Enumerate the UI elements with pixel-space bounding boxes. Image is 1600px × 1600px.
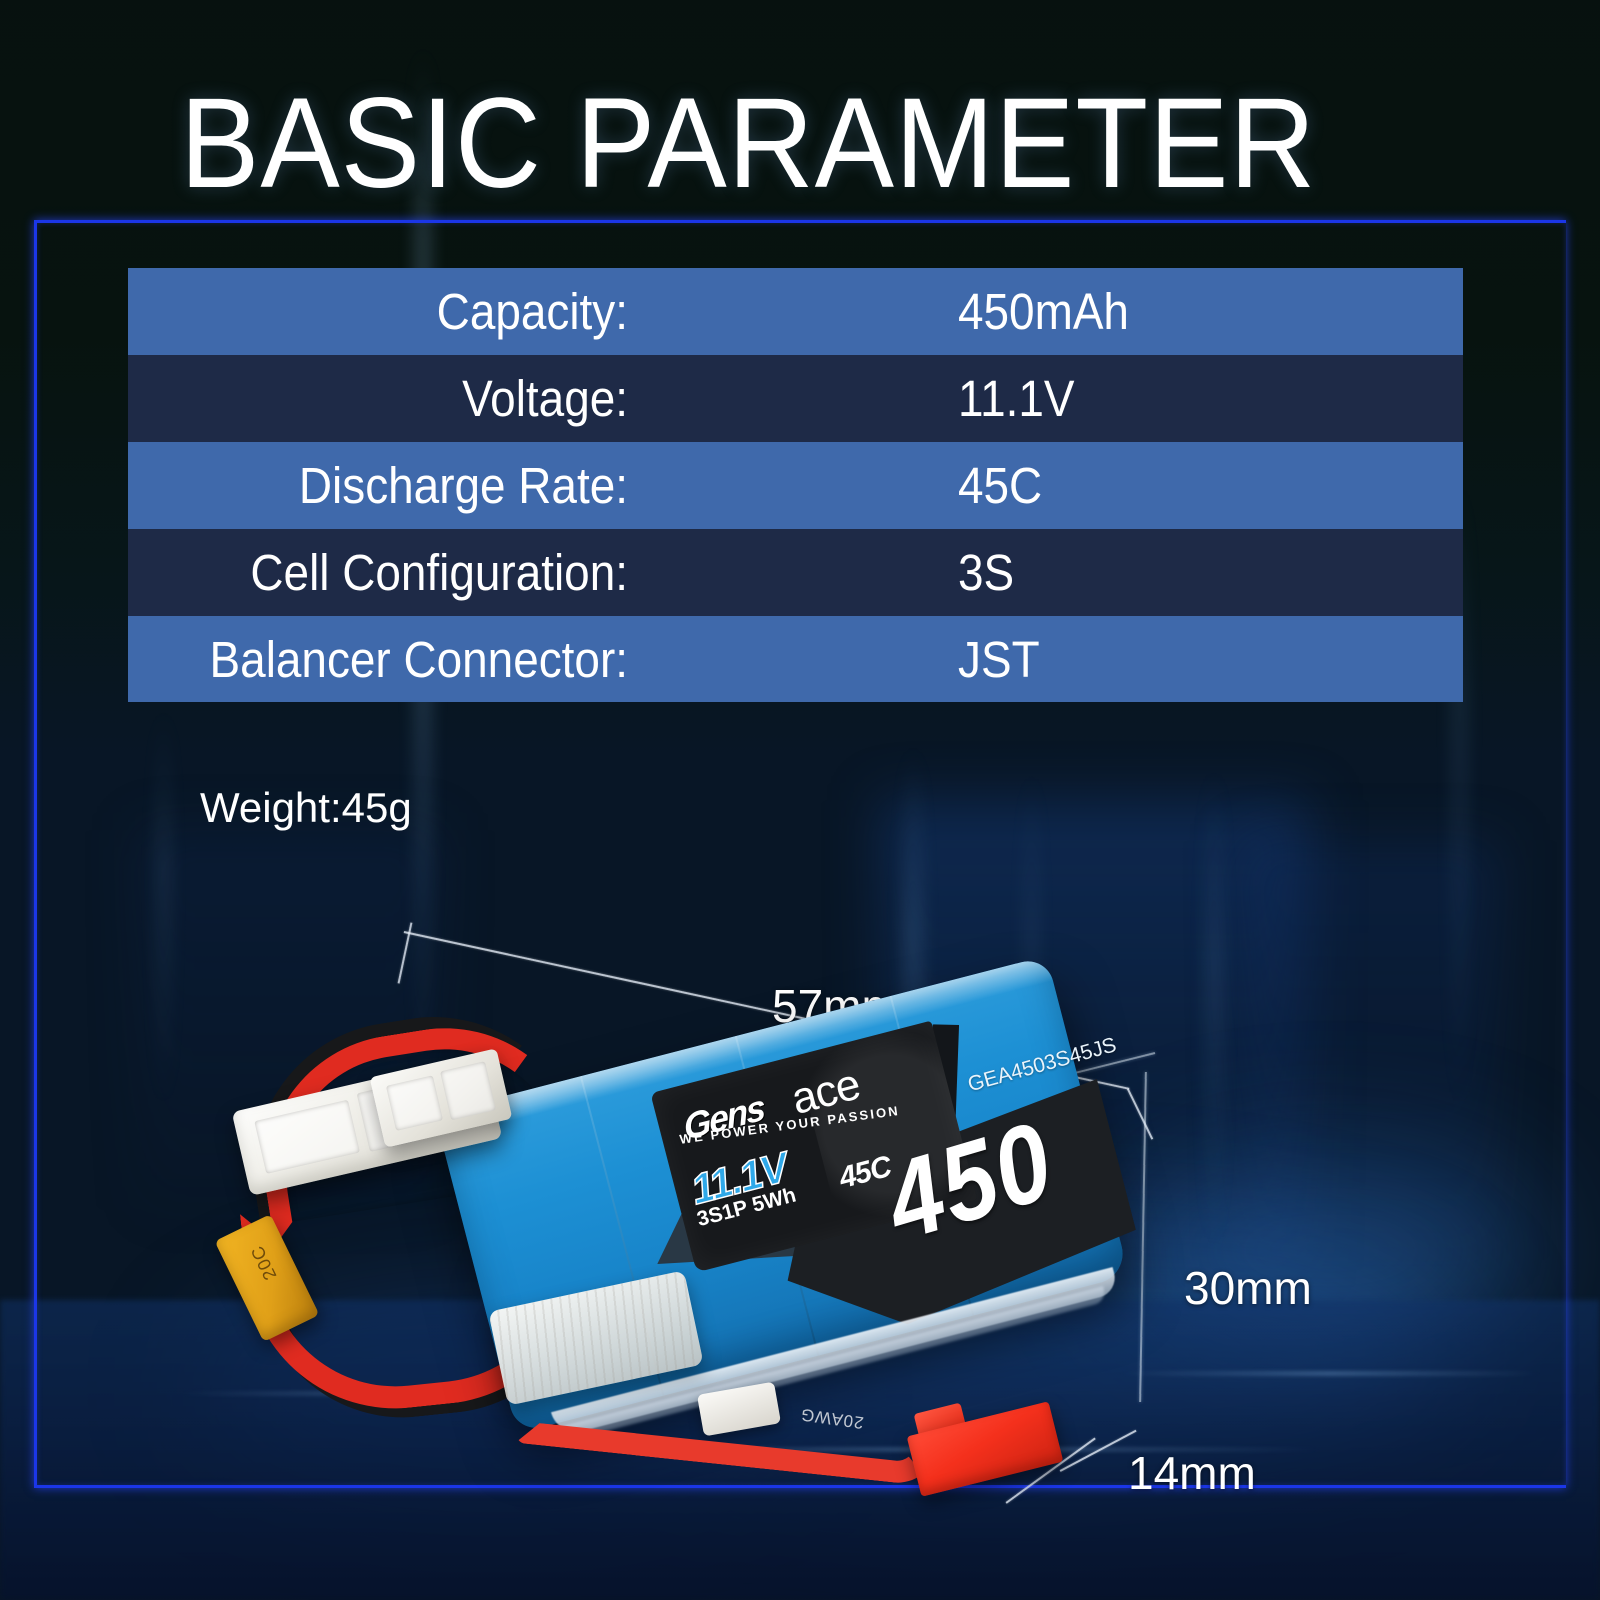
dimension-width-label: 14mm bbox=[1128, 1450, 1256, 1496]
table-row: Balancer Connector: JST bbox=[128, 616, 1463, 702]
table-row: Voltage: 11.1V bbox=[128, 355, 1463, 442]
spec-value: 450mAh bbox=[958, 286, 1129, 337]
infographic-canvas: BASIC PARAMETER Capacity: 450mAh Voltage… bbox=[0, 0, 1600, 1600]
page-title: BASIC PARAMETER bbox=[180, 80, 1316, 208]
table-row: Capacity: 450mAh bbox=[128, 268, 1463, 355]
spec-value: JST bbox=[958, 634, 1040, 685]
dimension-height-label: 30mm bbox=[1184, 1265, 1312, 1311]
spec-value: 3S bbox=[958, 547, 1014, 598]
table-row: Discharge Rate: 45C bbox=[128, 442, 1463, 529]
spec-label: Balancer Connector: bbox=[178, 634, 628, 685]
weight-label: Weight:45g bbox=[200, 787, 412, 829]
spec-label: Capacity: bbox=[178, 286, 628, 337]
spec-label: Voltage: bbox=[178, 373, 628, 424]
table-row: Cell Configuration: 3S bbox=[128, 529, 1463, 616]
spec-value: 45C bbox=[958, 460, 1042, 511]
spec-label: Discharge Rate: bbox=[178, 460, 628, 511]
spec-label: Cell Configuration: bbox=[178, 547, 628, 598]
spec-value: 11.1V bbox=[958, 373, 1075, 424]
spec-table: Capacity: 450mAh Voltage: 11.1V Discharg… bbox=[128, 268, 1463, 702]
